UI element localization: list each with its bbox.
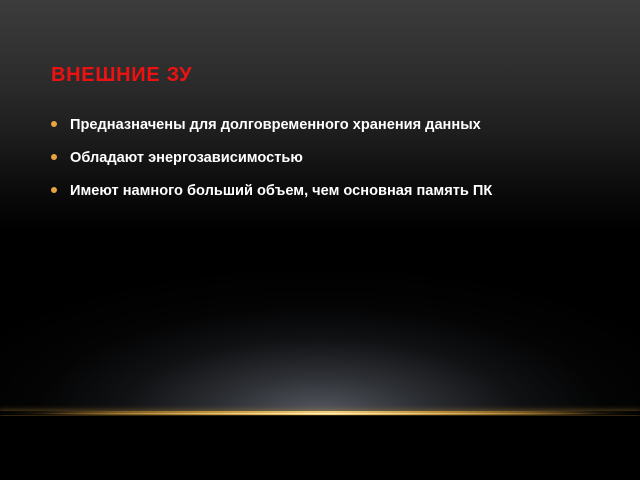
slide-title: Внешние ЗУ	[51, 63, 596, 87]
bullet-dot-icon	[51, 187, 57, 193]
presentation-slide: Внешние ЗУ Предназначены для долговремен…	[0, 0, 640, 480]
bullet-list-item: Обладают энергозависимостью	[48, 146, 593, 170]
bullet-list-item: Предназначены для долговременного хранен…	[48, 113, 593, 137]
bullet-dot-icon	[51, 154, 57, 160]
bullet-dot-icon	[51, 121, 57, 127]
bullet-list-item-label: Предназначены для долговременного хранен…	[70, 117, 481, 133]
bullet-list-item: Имеют намного больший объем, чем основна…	[48, 179, 593, 203]
bullet-list-item-label: Имеют намного больший объем, чем основна…	[70, 183, 492, 199]
bullet-list-item-label: Обладают энергозависимостью	[70, 150, 303, 166]
slide-content: Внешние ЗУ Предназначены для долговремен…	[0, 0, 640, 480]
slide-bullet-list: Предназначены для долговременного хранен…	[48, 113, 593, 212]
